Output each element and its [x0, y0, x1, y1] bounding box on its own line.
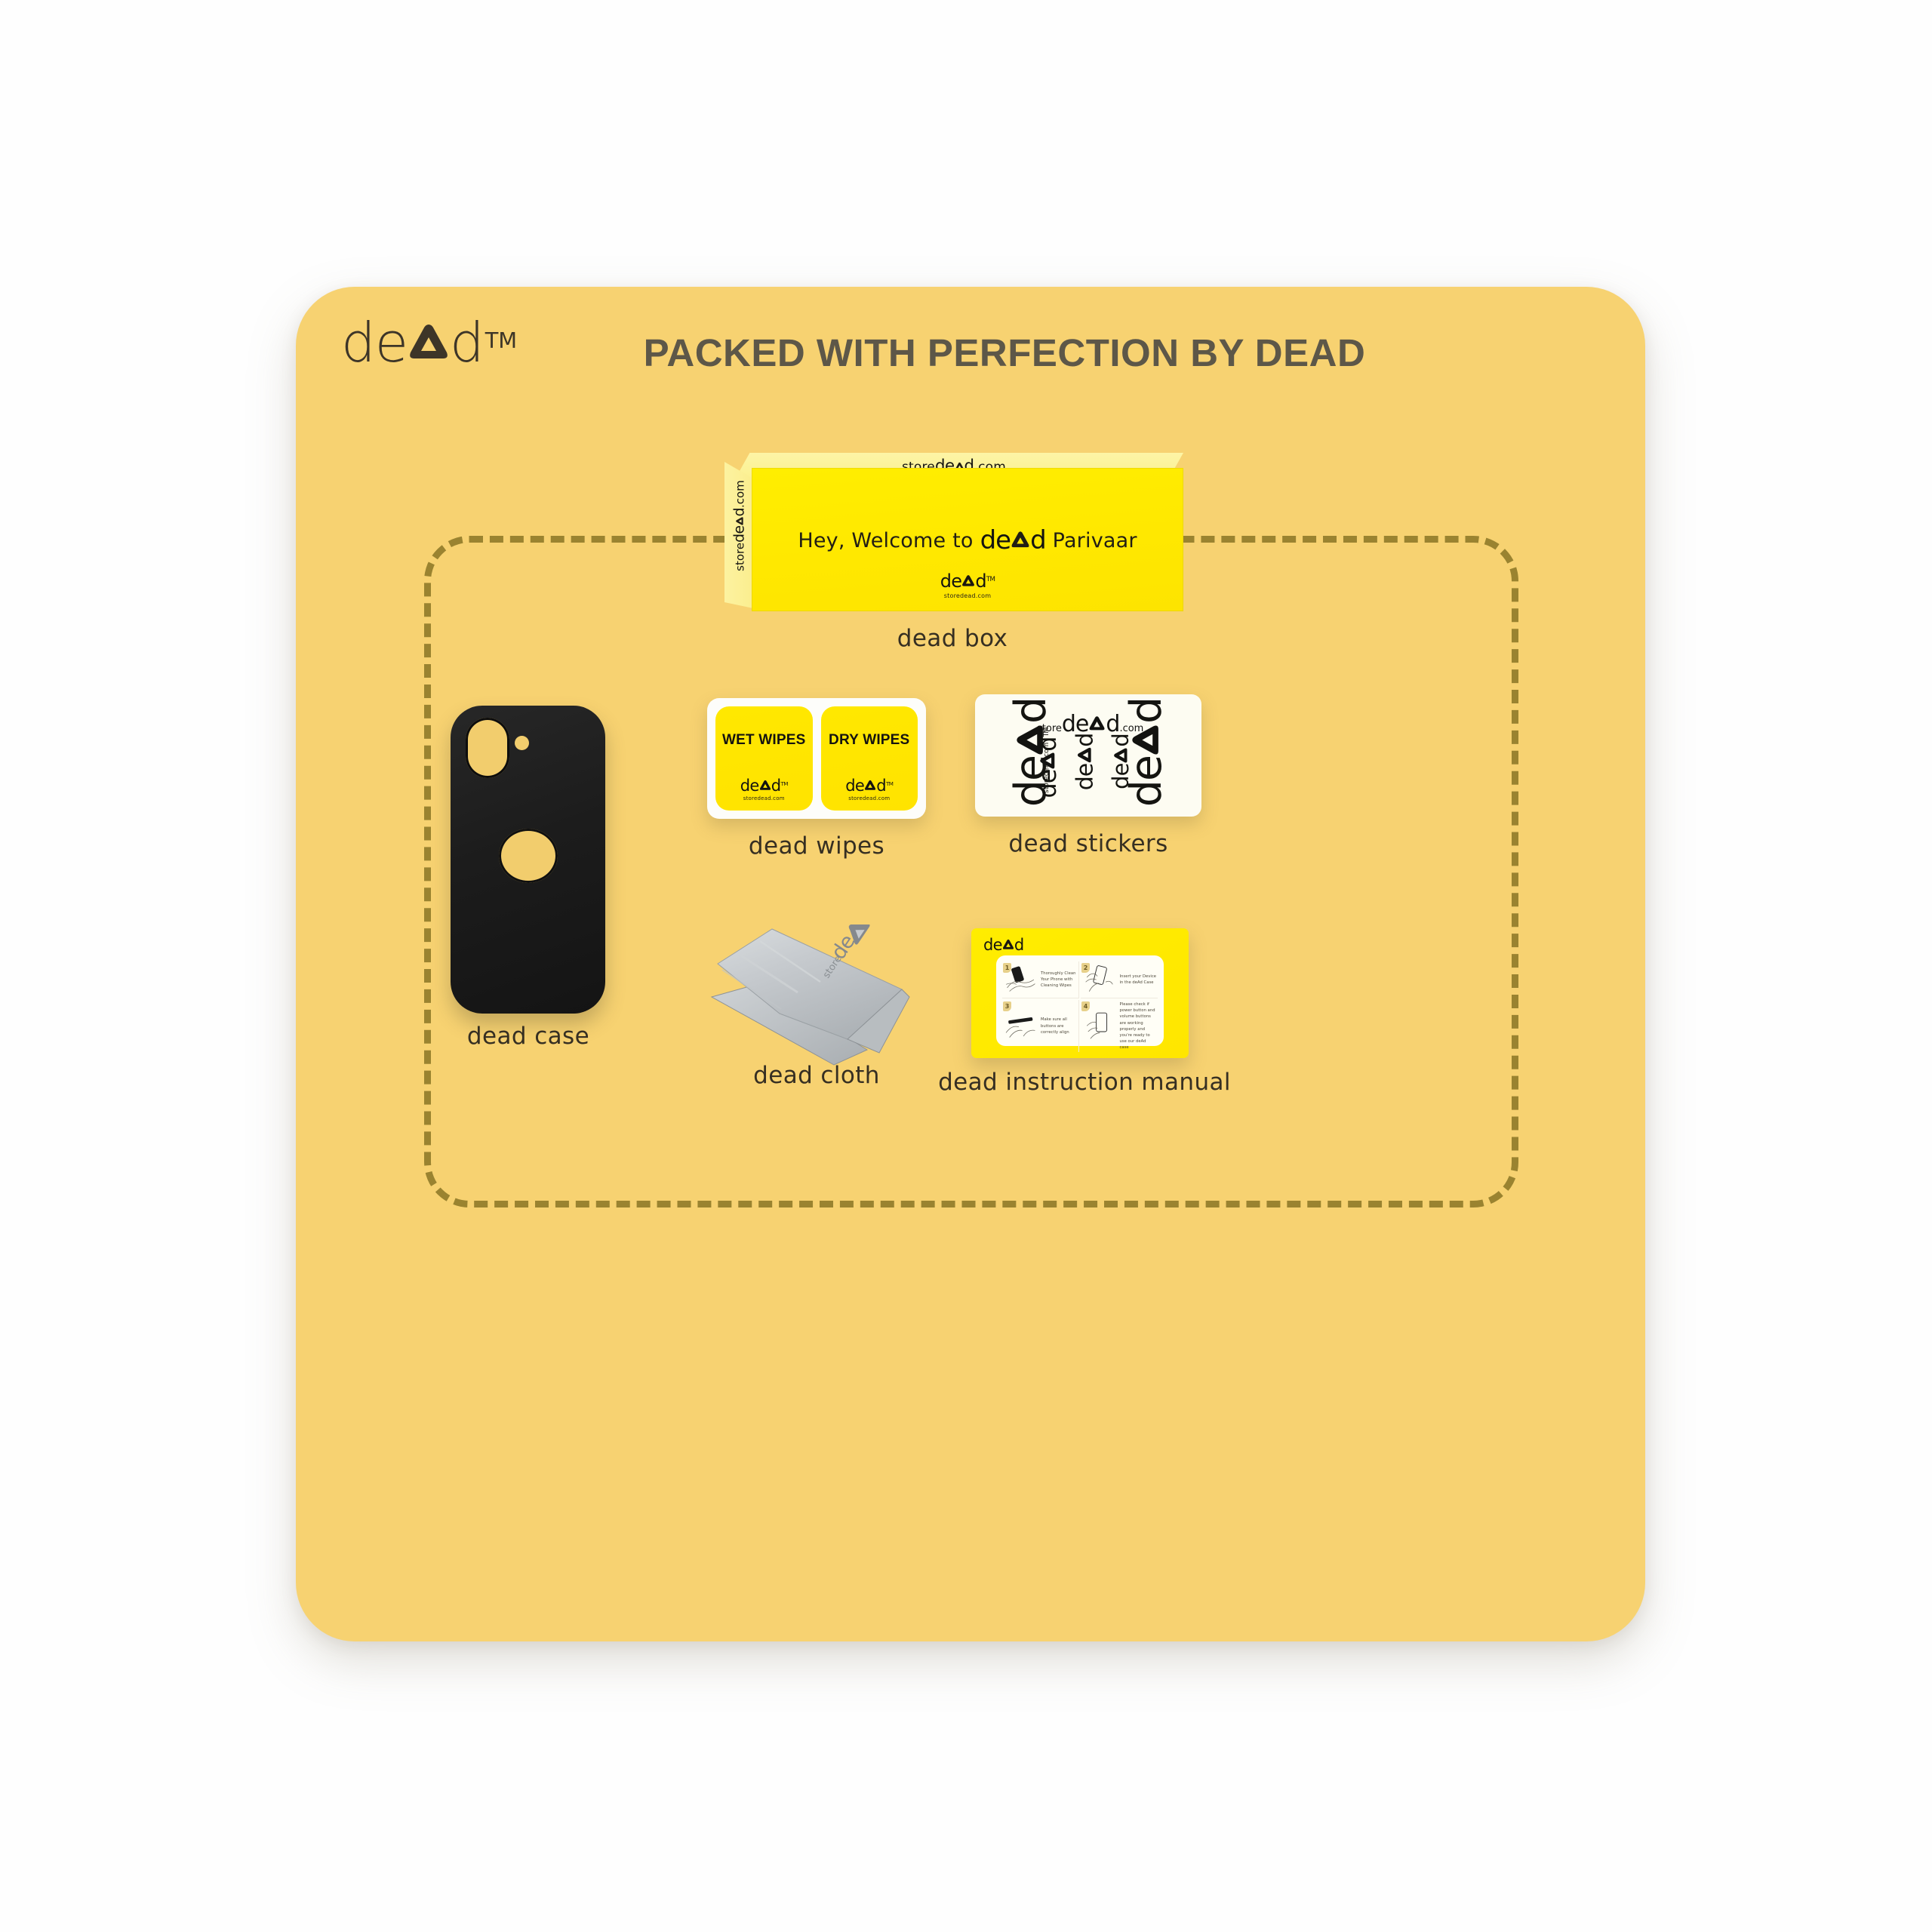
triangle-icon: [1113, 747, 1128, 764]
wipe-packet-wet: WET WIPES dedTM storedead.com: [715, 706, 813, 811]
caption-box: dead box: [897, 625, 1008, 652]
sticker-logo-small-3: ded: [1108, 724, 1134, 799]
sticker-logo-small-1: dedTM: [1033, 725, 1062, 801]
caption-stickers: dead stickers: [1008, 830, 1168, 857]
box-welcome-post: Parivaar: [1053, 529, 1137, 552]
box-illustration: storeded.com storeded.com Hey, Welcome t…: [718, 453, 1186, 615]
manual-steps-grid: 1 Thoroughly Clean Your Phone with Clean…: [996, 955, 1164, 1046]
triangle-icon: [1011, 531, 1030, 549]
wipe-url: storedead.com: [821, 795, 918, 801]
caption-cloth: dead cloth: [753, 1062, 880, 1089]
manual-logo: ded: [983, 936, 1024, 954]
step-text: Insert your Device in the deAd Case: [1120, 974, 1156, 986]
wipe-logo: dedTM storedead.com: [821, 777, 918, 801]
step-illustration: [1004, 963, 1038, 996]
wipe-packet-dry: DRY WIPES dedTM storedead.com: [821, 706, 918, 811]
triangle-icon: [759, 780, 771, 791]
box-bottom-logo: dedTM storedead.com: [752, 571, 1183, 599]
box-bottom-url: storedead.com: [752, 592, 1183, 599]
cloth-illustration: store de: [707, 924, 926, 1068]
product-item-wipes: WET WIPES dedTM storedead.com DRY WIPES …: [707, 698, 934, 849]
cloth-svg: store de: [707, 924, 926, 1068]
wipe-url: storedead.com: [715, 795, 813, 801]
caption-case: dead case: [467, 1023, 589, 1050]
manual-step-3: 3 Make sure all buttons are correctly al…: [1002, 1000, 1079, 1052]
screenshot-root: de d TM PACKED WITH PERFECTION BY DEAD: [0, 0, 1932, 1932]
flash-cutout: [515, 736, 529, 750]
box-front-face: Hey, Welcome to ded Parivaar dedTM store…: [752, 468, 1183, 611]
triangle-icon: [864, 780, 876, 791]
manual-step-1: 1 Thoroughly Clean Your Phone with Clean…: [1002, 961, 1079, 998]
product-item-case: dead case: [451, 706, 647, 1030]
wipe-label: DRY WIPES: [821, 732, 918, 749]
product-card: de d TM PACKED WITH PERFECTION BY DEAD: [296, 287, 1645, 1641]
manual-step-4: 4 Please check if power button and volum…: [1081, 1000, 1158, 1052]
step-text: Make sure all buttons are correctly alig…: [1041, 1017, 1077, 1035]
box-side-face: storeded.com: [724, 457, 753, 608]
wipes-tray: WET WIPES dedTM storedead.com DRY WIPES …: [707, 698, 926, 819]
step-illustration: [1004, 1001, 1038, 1051]
product-item-box: storeded.com storeded.com Hey, Welcome t…: [718, 453, 1186, 634]
triangle-icon: [736, 516, 744, 525]
triangle-icon: [961, 574, 975, 587]
logo-cutout: [499, 829, 558, 883]
step-text: Thoroughly Clean Your Phone with Cleanin…: [1041, 971, 1077, 989]
product-item-manual: ded 1 Thoro: [971, 928, 1205, 1094]
caption-manual: dead instruction manual: [938, 1069, 1231, 1096]
sticker-logo-small-2: ded: [1072, 724, 1099, 800]
step-text: Please check if power button and volume …: [1120, 1001, 1156, 1051]
page-title: PACKED WITH PERFECTION BY DEAD: [296, 331, 1645, 375]
product-item-cloth: store de dead cloth: [707, 924, 934, 1098]
step-illustration: [1082, 1001, 1118, 1051]
box-welcome-pre: Hey, Welcome to: [798, 529, 973, 552]
product-item-stickers: ded ded storeded.com storedead.com: [975, 694, 1209, 849]
caption-wipes: dead wipes: [749, 832, 884, 860]
phone-case-illustration: [451, 706, 605, 1014]
manual-step-2: 2 Insert your Device in the deAd Case: [1081, 961, 1158, 998]
step-illustration: [1082, 963, 1118, 996]
wipe-logo: dedTM storedead.com: [715, 777, 813, 801]
triangle-icon: [1002, 939, 1014, 950]
box-welcome-message: Hey, Welcome to ded Parivaar: [752, 525, 1183, 555]
manual-card: ded 1 Thoro: [971, 928, 1189, 1058]
triangle-icon: [1077, 747, 1093, 764]
box-side-url: storeded.com: [732, 469, 748, 583]
triangle-icon: [1039, 752, 1056, 770]
wipe-label: WET WIPES: [715, 732, 813, 749]
sticker-sheet: ded ded storeded.com storedead.com: [975, 694, 1201, 817]
camera-cutout: [466, 718, 509, 778]
